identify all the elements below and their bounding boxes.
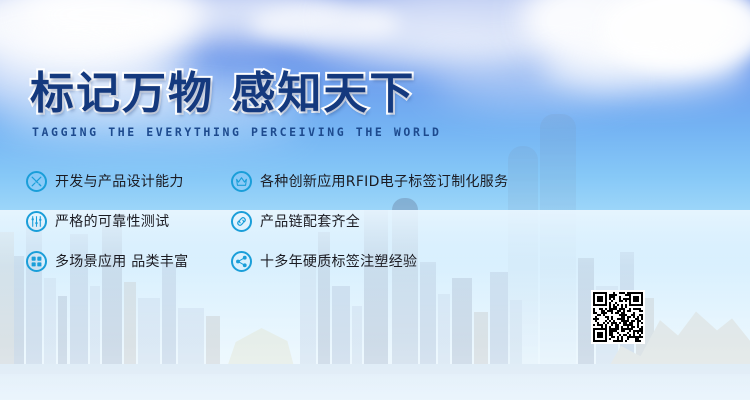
feature-label: 严格的可靠性测试 — [55, 211, 169, 231]
feature-item-supply-chain[interactable]: 产品链配套齐全 — [231, 208, 586, 234]
grid-icon — [26, 251, 47, 272]
qr-code[interactable] — [591, 290, 645, 344]
feature-label: 产品链配套齐全 — [260, 211, 360, 231]
promo-banner: 标记万物 感知天下 TAGGING THE EVERYTHING PERCEIV… — [0, 0, 750, 400]
headline-block: 标记万物 感知天下 TAGGING THE EVERYTHING PERCEIV… — [30, 72, 442, 139]
feature-item-reliability-test[interactable]: 严格的可靠性测试 — [26, 208, 231, 234]
feature-label: 多场景应用 品类丰富 — [55, 251, 188, 271]
feature-row-3: 多场景应用 品类丰富 十多年硬质标签注塑经验 — [26, 248, 586, 274]
feature-row-2: 严格的可靠性测试 产品链配套齐全 — [26, 208, 586, 234]
feature-item-multi-scenario[interactable]: 多场景应用 品类丰富 — [26, 248, 231, 274]
feature-column-left-3: 多场景应用 品类丰富 — [26, 248, 231, 274]
feature-column-right-1: 各种创新应用RFID电子标签订制化服务 — [231, 168, 586, 194]
feature-column-left-2: 严格的可靠性测试 — [26, 208, 231, 234]
feature-item-rfid-custom[interactable]: 各种创新应用RFID电子标签订制化服务 — [231, 168, 586, 194]
sliders-icon — [26, 211, 47, 232]
feature-row-1: 开发与产品设计能力 各种创新应用RFID电子标签订制化服务 — [26, 168, 586, 194]
feature-label: 开发与产品设计能力 — [55, 171, 184, 191]
feature-label: 各种创新应用RFID电子标签订制化服务 — [260, 171, 508, 191]
link-icon — [231, 211, 252, 232]
feature-item-development[interactable]: 开发与产品设计能力 — [26, 168, 231, 194]
feature-column-left-1: 开发与产品设计能力 — [26, 168, 231, 194]
crown-icon — [231, 171, 252, 192]
page-subtitle: TAGGING THE EVERYTHING PERCEIVING THE WO… — [32, 125, 442, 139]
feature-column-right-2: 产品链配套齐全 — [231, 208, 586, 234]
share-icon — [231, 251, 252, 272]
feature-list: 开发与产品设计能力 各种创新应用RFID电子标签订制化服务 — [26, 168, 586, 288]
feature-column-right-3: 十多年硬质标签注塑经验 — [231, 248, 586, 274]
feature-label: 十多年硬质标签注塑经验 — [260, 251, 417, 271]
tools-icon — [26, 171, 47, 192]
qr-code-image — [593, 292, 643, 342]
page-title: 标记万物 感知天下 — [30, 72, 442, 116]
feature-item-molding-experience[interactable]: 十多年硬质标签注塑经验 — [231, 248, 586, 274]
